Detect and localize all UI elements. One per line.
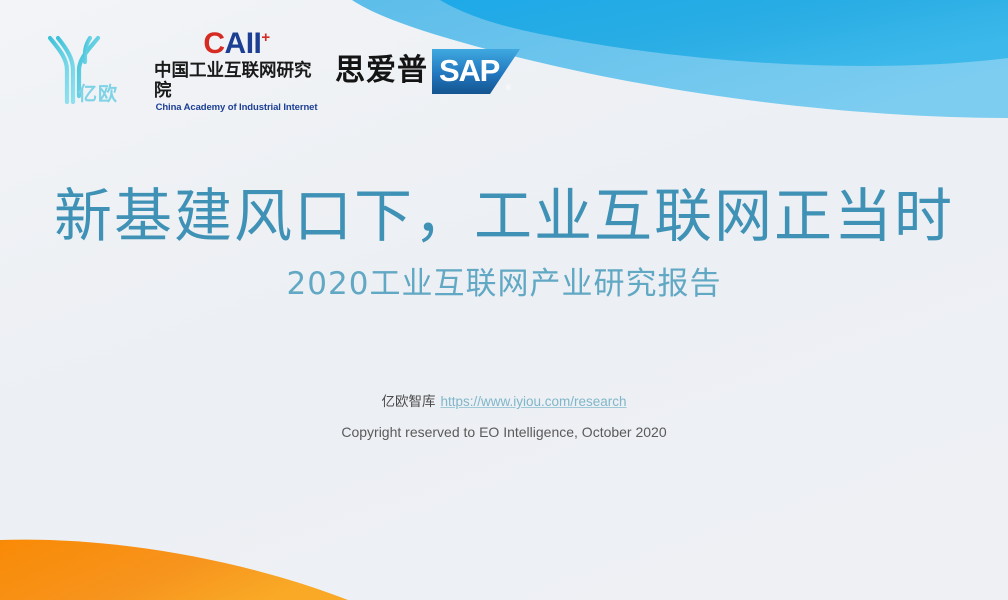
page-subtitle: 2020工业互联网产业研究报告 <box>0 264 1008 304</box>
credit-org-name: 亿欧智库 <box>381 394 435 410</box>
copyright-text: Copyright reserved to EO Intelligence, O… <box>0 422 1008 442</box>
caii-letters-aii: AII <box>225 27 262 60</box>
report-cover-slide: 亿欧 CAII+ 中国工业互联网研究院 China Academy of Ind… <box>0 0 1008 600</box>
caii-plus-icon: + <box>261 29 269 46</box>
caii-chinese-name: 中国工业互联网研究院 <box>154 61 319 101</box>
sap-wordmark: SAP <box>439 54 499 88</box>
page-title: 新基建风口下，工业互联网正当时 <box>0 180 1008 252</box>
title-block: 新基建风口下，工业互联网正当时 2020工业互联网产业研究报告 <box>0 180 1008 304</box>
sap-registered-icon: ® <box>506 85 511 92</box>
caii-logo: CAII+ 中国工业互联网研究院 China Academy of Indust… <box>154 33 319 109</box>
research-url-link[interactable]: https://www.iyiou.com/research <box>440 394 626 409</box>
sap-chinese-name: 思爱普 <box>335 56 428 86</box>
eo-intelligence-logo: 亿欧 <box>46 32 142 110</box>
caii-letter-c: C <box>203 27 224 60</box>
logo-bar: 亿欧 CAII+ 中国工业互联网研究院 China Academy of Ind… <box>46 32 520 110</box>
caii-english-name: China Academy of Industrial Internet <box>156 102 318 113</box>
wave-orange <box>0 540 348 600</box>
credit-source-line: 亿欧智库https://www.iyiou.com/research <box>0 392 1008 412</box>
caii-abbreviation: CAII+ <box>203 29 269 59</box>
wave-blue-dark <box>440 0 1008 66</box>
credits-block: 亿欧智库https://www.iyiou.com/research Copyr… <box>0 392 1008 442</box>
eo-wordmark: 亿欧 <box>78 79 118 106</box>
sap-badge: SAP ® <box>432 49 520 94</box>
sap-logo: 思爱普 SAP ® <box>335 33 520 109</box>
